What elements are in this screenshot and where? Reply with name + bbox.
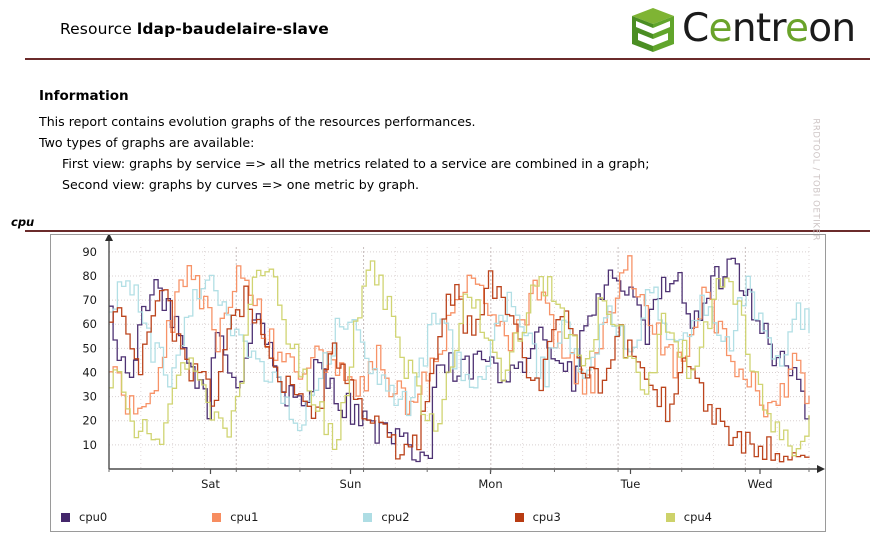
legend-swatch-cpu0 [61,513,70,522]
svg-text:10: 10 [82,438,97,452]
legend-swatch-cpu4 [666,513,675,522]
svg-text:80: 80 [82,269,97,283]
page-header: Resource ldap-baudelaire-slave Centreon [0,0,876,62]
legend-label-cpu0: cpu0 [79,510,107,524]
centreon-cube-icon [630,7,676,53]
legend-swatch-cpu2 [363,513,372,522]
svg-text:Sat: Sat [201,477,220,491]
centreon-logo: Centreon [630,6,870,54]
legend-label-cpu1: cpu1 [230,510,258,524]
logo-char-e1: e [709,6,732,51]
centreon-wordmark: Centreon [682,5,855,53]
svg-text:40: 40 [82,365,97,379]
svg-text:70: 70 [82,293,97,307]
svg-text:30: 30 [82,390,97,404]
svg-text:50: 50 [82,341,97,355]
svg-text:20: 20 [82,414,97,428]
page-title-prefix: Resource [60,20,137,38]
logo-char-ntr: ntr [732,6,785,51]
header-divider [25,58,870,60]
svg-text:90: 90 [82,245,97,259]
legend-label-cpu3: cpu3 [533,510,561,524]
information-line-2: Two types of graphs are available: [39,132,739,153]
information-line-3: First view: graphs by service => all the… [39,153,739,174]
information-block: Information This report contains evoluti… [39,88,739,195]
logo-char-c: C [682,6,709,51]
cpu-graph-panel: 102030405060708090SatSunMonTueWed RRDTOO… [50,234,826,532]
legend-item-cpu4: cpu4 [666,510,817,524]
rrdtool-watermark: RRDTOOL / TOBI OETIKER [811,118,821,241]
legend-item-cpu1: cpu1 [212,510,363,524]
information-heading: Information [39,88,739,104]
svg-text:Sun: Sun [340,477,362,491]
logo-char-e2: e [785,6,808,51]
logo-char-on: on [808,6,855,51]
information-line-4: Second view: graphs by curves => one met… [39,174,739,195]
legend-item-cpu3: cpu3 [515,510,666,524]
chart-legend: cpu0cpu1cpu2cpu3cpu4 [61,506,817,528]
section-label-cpu: cpu [11,215,34,229]
svg-text:Wed: Wed [747,477,772,491]
legend-item-cpu0: cpu0 [61,510,212,524]
resource-name: ldap-baudelaire-slave [137,20,329,38]
page-title: Resource ldap-baudelaire-slave [60,20,329,38]
legend-label-cpu4: cpu4 [684,510,712,524]
information-line-1: This report contains evolution graphs of… [39,111,739,132]
legend-item-cpu2: cpu2 [363,510,514,524]
section-divider [25,230,870,232]
svg-text:60: 60 [82,317,97,331]
legend-label-cpu2: cpu2 [381,510,409,524]
legend-swatch-cpu3 [515,513,524,522]
cpu-line-chart: 102030405060708090SatSunMonTueWed [51,235,825,507]
legend-swatch-cpu1 [212,513,221,522]
svg-text:Mon: Mon [478,477,502,491]
svg-text:Tue: Tue [620,477,641,491]
